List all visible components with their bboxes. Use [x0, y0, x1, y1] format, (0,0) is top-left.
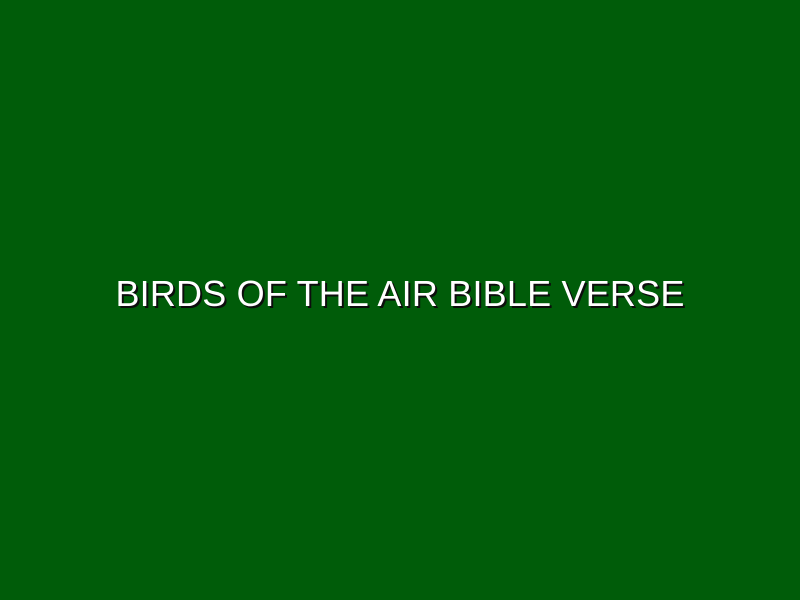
page-title: BIRDS OF THE AIR BIBLE VERSE: [115, 273, 684, 314]
headline-container: BIRDS OF THE AIR BIBLE VERSE: [0, 273, 800, 314]
title-banner: BIRDS OF THE AIR BIBLE VERSE: [0, 0, 800, 600]
